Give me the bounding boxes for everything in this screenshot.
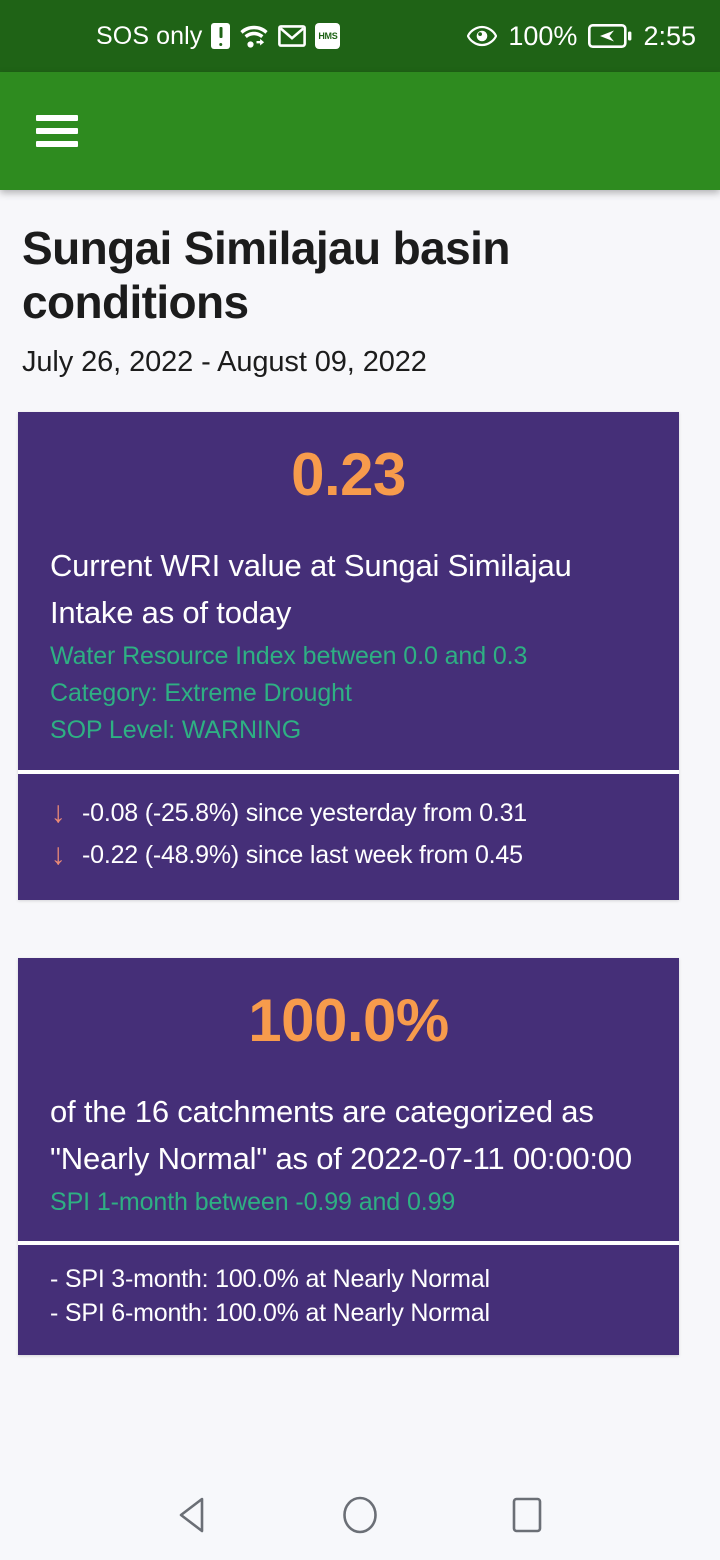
hamburger-bar bbox=[36, 115, 78, 121]
wri-note-sop-level: SOP Level: WARNING bbox=[50, 714, 647, 747]
delta-text-yesterday: -0.08 (-25.8%) since yesterday from 0.31 bbox=[82, 792, 527, 834]
status-bar-right: 100% 2:55 bbox=[467, 23, 696, 50]
page-heading: Sungai Similajau basin conditions July 2… bbox=[0, 190, 720, 379]
eye-icon bbox=[467, 25, 497, 47]
status-bar: SOS only HMS bbox=[0, 0, 720, 72]
hamburger-bar bbox=[36, 141, 78, 147]
recents-button[interactable] bbox=[489, 1477, 565, 1553]
spi-headline: of the 16 catchments are categorized as … bbox=[50, 1088, 647, 1182]
status-bar-left: SOS only HMS bbox=[96, 23, 340, 49]
wri-metric-value: 0.23 bbox=[50, 442, 647, 508]
back-button[interactable] bbox=[155, 1477, 231, 1553]
battery-charging-icon bbox=[588, 24, 632, 48]
android-nav-bar bbox=[0, 1470, 720, 1560]
card-footer: - SPI 3-month: 100.0% at Nearly Normal -… bbox=[18, 1245, 679, 1355]
home-button[interactable] bbox=[322, 1477, 398, 1553]
wri-note-range: Water Resource Index between 0.0 and 0.3 bbox=[50, 640, 647, 673]
arrow-down-icon: ↓ bbox=[50, 840, 66, 870]
spi-note-range: SPI 1-month between -0.99 and 0.99 bbox=[50, 1186, 647, 1219]
page-date-range: July 26, 2022 - August 09, 2022 bbox=[22, 346, 698, 379]
wri-summary-card[interactable]: 0.23 Current WRI value at Sungai Similaj… bbox=[18, 412, 679, 900]
back-triangle-icon bbox=[176, 1496, 210, 1534]
arrow-down-icon: ↓ bbox=[50, 798, 66, 828]
recents-square-icon bbox=[510, 1496, 544, 1534]
envelope-icon bbox=[278, 25, 306, 47]
card-body: 0.23 Current WRI value at Sungai Similaj… bbox=[18, 412, 679, 770]
hms-badge-icon: HMS bbox=[315, 23, 340, 49]
card-list: 0.23 Current WRI value at Sungai Similaj… bbox=[0, 412, 720, 1355]
page-title: Sungai Similajau basin conditions bbox=[22, 222, 698, 330]
wifi-icon bbox=[239, 23, 269, 49]
delta-text-last-week: -0.22 (-48.9%) since last week from 0.45 bbox=[82, 834, 523, 876]
spi-3-month-row: - SPI 3-month: 100.0% at Nearly Normal bbox=[50, 1263, 647, 1297]
delta-row: ↓ -0.08 (-25.8%) since yesterday from 0.… bbox=[50, 792, 647, 834]
alert-badge-icon bbox=[211, 23, 230, 49]
delta-row: ↓ -0.22 (-48.9%) since last week from 0.… bbox=[50, 834, 647, 876]
spi-summary-card[interactable]: 100.0% of the 16 catchments are categori… bbox=[18, 958, 679, 1355]
wri-headline: Current WRI value at Sungai Similajau In… bbox=[50, 542, 647, 636]
app-bar bbox=[0, 72, 720, 190]
wri-note-category: Category: Extreme Drought bbox=[50, 677, 647, 710]
clock-label: 2:55 bbox=[643, 23, 696, 50]
home-circle-icon bbox=[341, 1495, 379, 1535]
spi-6-month-row: - SPI 6-month: 100.0% at Nearly Normal bbox=[50, 1297, 647, 1331]
carrier-label: SOS only bbox=[96, 24, 202, 49]
spi-metric-value: 100.0% bbox=[50, 988, 647, 1054]
battery-percent-label: 100% bbox=[508, 23, 577, 50]
phone-screen: SOS only HMS bbox=[0, 0, 720, 1560]
card-footer: ↓ -0.08 (-25.8%) since yesterday from 0.… bbox=[18, 774, 679, 900]
hamburger-bar bbox=[36, 128, 78, 134]
card-body: 100.0% of the 16 catchments are categori… bbox=[18, 958, 679, 1241]
hamburger-menu-icon[interactable] bbox=[36, 115, 78, 147]
